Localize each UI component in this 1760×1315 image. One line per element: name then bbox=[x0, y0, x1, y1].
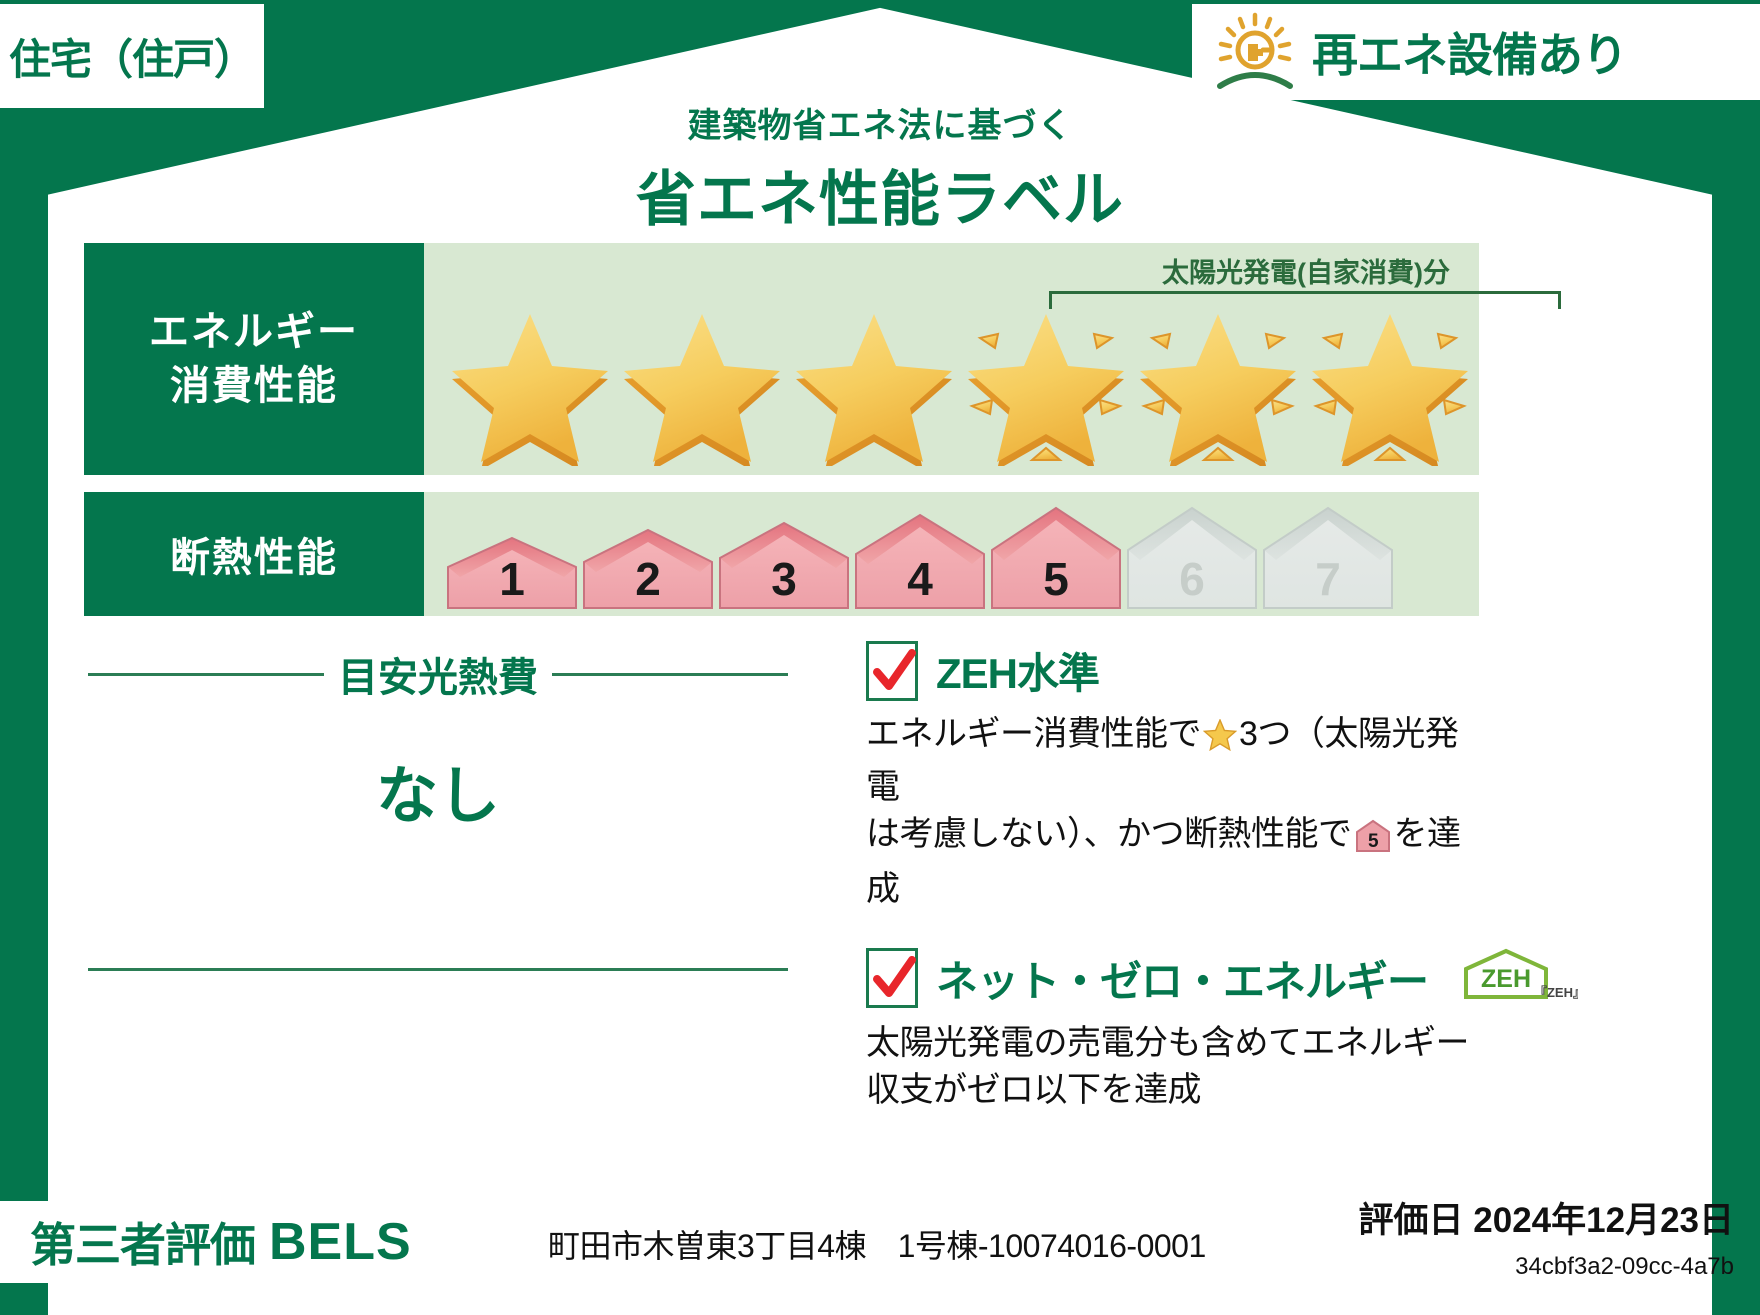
svg-text:5: 5 bbox=[1367, 831, 1378, 852]
insulation-grade-number: 2 bbox=[582, 552, 714, 606]
insulation-grade-4: 4 bbox=[854, 513, 986, 610]
claim-net-zero-title: ネット・ゼロ・エネルギー bbox=[936, 948, 1428, 1009]
inline-grade-house-icon: 5 bbox=[1355, 823, 1391, 861]
label-title-block: 建築物省エネ法に基づく 省エネ性能ラベル bbox=[0, 98, 1760, 238]
claim-net-zero-header: ネット・ゼロ・エネルギー ZEH 『ZEH』 bbox=[866, 947, 1486, 1010]
insulation-grade-5: 5 bbox=[990, 506, 1122, 610]
sun-plug-icon bbox=[1212, 12, 1298, 92]
svg-text:ZEH: ZEH bbox=[1481, 965, 1531, 993]
inline-star-icon bbox=[1203, 721, 1237, 759]
claim-net-zero-energy: ネット・ゼロ・エネルギー ZEH 『ZEH』 太陽光発電の売電分も含めてエネルギ… bbox=[866, 947, 1486, 1114]
insulation-performance-row-label: 断熱性能 bbox=[84, 492, 424, 616]
energy-star-1 bbox=[446, 296, 614, 466]
evaluation-id: 34cbf3a2-09cc-4a7b bbox=[1515, 1253, 1734, 1281]
bels-badge: 第三者評価 BELS bbox=[0, 1201, 530, 1283]
utility-cost-value: なし bbox=[88, 745, 788, 835]
solar-annotation-label: 太陽光発電(自家消費)分 bbox=[1046, 251, 1566, 290]
insulation-label-text: 断熱性能 bbox=[170, 525, 338, 583]
energy-performance-row-label: エネルギー 消費性能 bbox=[84, 243, 424, 475]
insulation-grade-7: 7 bbox=[1262, 506, 1394, 610]
claim-zeh-standard-header: ZEH水準 bbox=[866, 640, 1486, 701]
energy-star-4 bbox=[962, 296, 1130, 466]
renewable-energy-label: 再エネ設備あり bbox=[1312, 19, 1627, 85]
insulation-grade-scale: 1234567 bbox=[446, 506, 1394, 610]
evaluation-date: 評価日 2024年12月23日 bbox=[1359, 1192, 1734, 1243]
zeh-claims-block: ZEH水準 エネルギー消費性能で3つ（太陽光発電は考慮しない）、かつ断熱性能で5… bbox=[866, 640, 1486, 1113]
insulation-grade-2: 2 bbox=[582, 528, 714, 610]
energy-performance-row-value: 太陽光発電(自家消費)分 bbox=[424, 243, 1479, 475]
energy-star-rating bbox=[424, 291, 1479, 471]
energy-label-line1: エネルギー bbox=[149, 305, 359, 359]
energy-star-5 bbox=[1134, 296, 1302, 466]
svg-text:『ZEH』: 『ZEH』 bbox=[1534, 985, 1578, 1000]
claim-net-zero-body-line1: 太陽光発電の売電分も含めてエネルギー bbox=[866, 1024, 1469, 1062]
insulation-performance-row: 断熱性能 1234567 bbox=[84, 492, 1479, 616]
utility-cost-rule-bottom bbox=[88, 968, 788, 971]
utility-cost-title: 目安光熱費 bbox=[338, 645, 538, 703]
claim-net-zero-body-line2: 収支がゼロ以下を達成 bbox=[866, 1071, 1201, 1109]
energy-label-line2: 消費性能 bbox=[170, 359, 338, 413]
checkbox-zeh-standard[interactable] bbox=[866, 641, 918, 701]
bels-energy-label: 住宅（住戸） 再エ bbox=[0, 0, 1760, 1315]
insulation-grade-1: 1 bbox=[446, 536, 578, 610]
utility-cost-rule-left bbox=[88, 673, 324, 676]
energy-star-6 bbox=[1306, 296, 1474, 466]
bels-badge-jp-label: 第三者評価 bbox=[30, 1209, 255, 1275]
insulation-performance-row-value: 1234567 bbox=[424, 492, 1479, 616]
checkbox-net-zero-energy[interactable] bbox=[866, 948, 918, 1008]
property-address: 町田市木曽東3丁目4棟 1号棟-10074016-0001 bbox=[548, 1221, 1206, 1267]
insulation-grade-number: 6 bbox=[1126, 552, 1258, 606]
label-subtitle: 建築物省エネ法に基づく bbox=[0, 98, 1760, 147]
claim-zeh-body-part1: エネルギー消費性能で bbox=[866, 715, 1201, 753]
utility-cost-rule-right bbox=[552, 673, 788, 676]
energy-star-3 bbox=[790, 296, 958, 466]
category-badge-label: 住宅（住戸） bbox=[9, 26, 255, 87]
renewable-energy-badge: 再エネ設備あり bbox=[1192, 4, 1760, 100]
zeh-logo-icon: ZEH 『ZEH』 bbox=[1460, 947, 1578, 1010]
claim-zeh-standard-body: エネルギー消費性能で3つ（太陽光発電は考慮しない）、かつ断熱性能で5を達成 bbox=[866, 711, 1486, 913]
bels-badge-en-label: BELS bbox=[269, 1212, 412, 1272]
energy-star-2 bbox=[618, 296, 786, 466]
insulation-grade-number: 3 bbox=[718, 552, 850, 606]
claim-zeh-standard-title: ZEH水準 bbox=[936, 640, 1099, 701]
category-badge: 住宅（住戸） bbox=[0, 4, 264, 108]
claim-net-zero-body: 太陽光発電の売電分も含めてエネルギー収支がゼロ以下を達成 bbox=[866, 1020, 1486, 1114]
insulation-grade-number: 5 bbox=[990, 552, 1122, 606]
insulation-grade-number: 1 bbox=[446, 552, 578, 606]
label-title: 省エネ性能ラベル bbox=[0, 151, 1760, 238]
insulation-grade-6: 6 bbox=[1126, 506, 1258, 610]
insulation-grade-number: 4 bbox=[854, 552, 986, 606]
insulation-grade-3: 3 bbox=[718, 521, 850, 610]
claim-zeh-standard: ZEH水準 エネルギー消費性能で3つ（太陽光発電は考慮しない）、かつ断熱性能で5… bbox=[866, 640, 1486, 913]
claim-zeh-body-part2: は考慮しない）、かつ断熱性能で bbox=[866, 815, 1352, 853]
insulation-grade-number: 7 bbox=[1262, 552, 1394, 606]
utility-cost-header: 目安光熱費 bbox=[88, 645, 788, 703]
energy-performance-row: エネルギー 消費性能 太陽光発電(自家消費)分 bbox=[84, 243, 1479, 475]
